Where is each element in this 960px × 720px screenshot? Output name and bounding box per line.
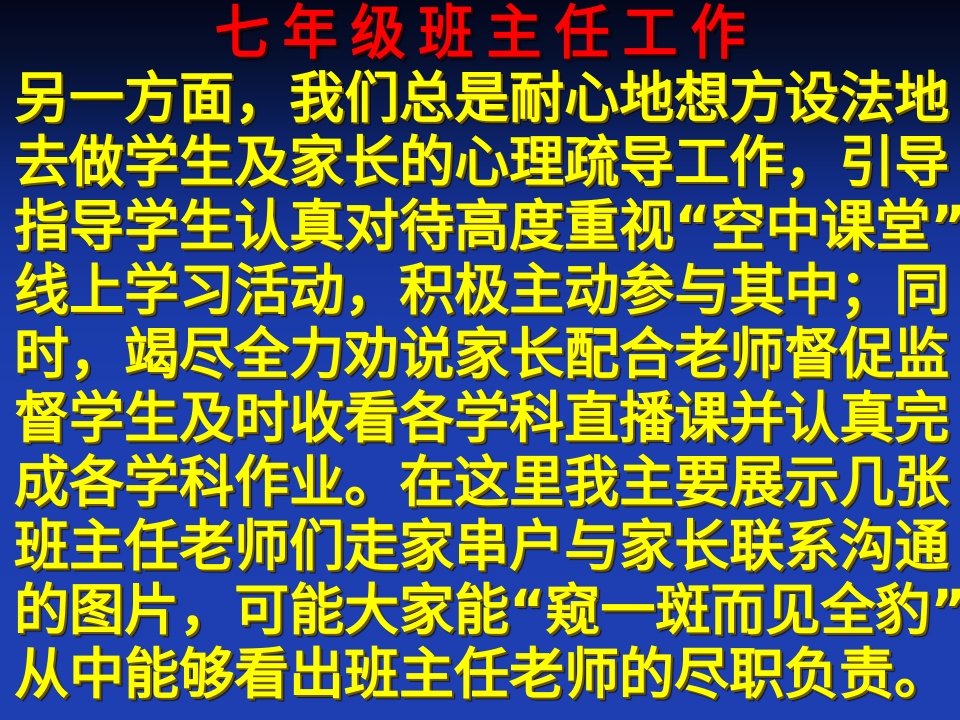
body-glyph: 心: [564, 66, 619, 130]
body-glyph: 习: [179, 258, 234, 322]
body-glyph: 及: [179, 386, 234, 450]
body-glyph: 学: [454, 386, 509, 450]
body-glyph: 导: [619, 130, 674, 194]
body-glyph: 学: [124, 258, 179, 322]
body-glyph: 中: [765, 194, 820, 258]
body-glyph: 与: [674, 258, 729, 322]
body-glyph: 理: [509, 130, 564, 194]
body-glyph: 其: [729, 258, 784, 322]
body-glyph: 收: [289, 386, 344, 450]
body-glyph: ”: [930, 578, 960, 642]
body-glyph: 待: [399, 194, 454, 258]
body-glyph: 片: [124, 578, 179, 642]
body-glyph: 高: [454, 194, 509, 258]
presentation-slide: 七年级班主任工作 另一方面，我们总是耐心地想方设法地 去做学生及家长的心理疏导工…: [0, 0, 960, 720]
body-line: 时，竭尽全力劝说家长配合老师督促监: [14, 322, 948, 386]
body-glyph: 并: [729, 386, 784, 450]
body-glyph: 直: [564, 386, 619, 450]
body-glyph: 与: [564, 514, 619, 578]
body-glyph: 在: [399, 450, 454, 514]
body-glyph: 动: [564, 258, 619, 322]
body-glyph: 生: [179, 194, 234, 258]
body-glyph: 及: [234, 130, 289, 194]
body-glyph: 真: [289, 194, 344, 258]
body-glyph: 法: [839, 66, 894, 130]
body-glyph: 认: [234, 194, 289, 258]
body-glyph: ，: [69, 322, 124, 386]
body-line: 另一方面，我们总是耐心地想方设法地: [14, 66, 948, 130]
body-glyph: 这: [454, 450, 509, 514]
body-glyph: 学: [124, 130, 179, 194]
body-glyph: ，: [344, 258, 399, 322]
body-glyph: 们: [344, 66, 399, 130]
body-glyph: 展: [729, 450, 784, 514]
body-glyph: 去: [14, 130, 69, 194]
body-glyph: 通: [894, 514, 949, 578]
body-glyph: 导: [894, 130, 949, 194]
body-line: 成各学科作业。在这里我主要展示几张: [14, 450, 948, 514]
body-glyph: 同: [894, 258, 949, 322]
body-glyph: 积: [399, 258, 454, 322]
body-glyph: 走: [344, 514, 399, 578]
body-glyph: 生: [179, 130, 234, 194]
body-glyph: 视: [619, 194, 674, 258]
body-glyph: 督: [784, 322, 839, 386]
body-glyph: 串: [454, 514, 509, 578]
body-glyph: “: [674, 194, 710, 258]
body-glyph: ”: [930, 194, 960, 258]
body-glyph: 播: [619, 386, 674, 450]
body-glyph: 力: [289, 322, 344, 386]
body-glyph: 科: [509, 386, 564, 450]
body-glyph: 时: [14, 322, 69, 386]
body-glyph: 我: [289, 66, 344, 130]
body-glyph: 班: [14, 514, 69, 578]
body-glyph: 各: [69, 450, 124, 514]
body-glyph: 竭: [124, 322, 179, 386]
body-glyph: 科: [179, 450, 234, 514]
body-glyph: 成: [14, 450, 69, 514]
body-glyph: 里: [509, 450, 564, 514]
body-glyph: 线: [14, 258, 69, 322]
body-glyph: 度: [509, 194, 564, 258]
body-glyph: ，: [784, 130, 839, 194]
body-line: 去做学生及家长的心理疏导工作，引导: [14, 130, 948, 194]
body-line: 指导学生认真对待高度重视“空中课堂”: [14, 194, 948, 258]
body-glyph: 尽: [179, 322, 234, 386]
body-glyph: 全: [820, 578, 875, 642]
body-glyph: 的: [14, 578, 69, 642]
slide-body-text: 另一方面，我们总是耐心地想方设法地 去做学生及家长的心理疏导工作，引导 指导学生…: [14, 66, 948, 706]
body-glyph: 可: [234, 578, 289, 642]
body-glyph: 老: [179, 514, 234, 578]
body-glyph: 窥: [545, 578, 600, 642]
body-glyph: 课: [674, 386, 729, 450]
body-glyph: 沟: [839, 514, 894, 578]
body-glyph: 极: [454, 258, 509, 322]
body-glyph: 作: [234, 450, 289, 514]
slide-title: 七年级班主任工作: [0, 4, 960, 59]
body-glyph: 地: [619, 66, 674, 130]
body-glyph: 上: [69, 258, 124, 322]
body-glyph: 能: [454, 578, 509, 642]
body-glyph: “: [509, 578, 545, 642]
body-glyph: 师: [234, 514, 289, 578]
body-glyph: 中: [784, 258, 839, 322]
body-glyph: 张: [894, 450, 949, 514]
body-glyph: 长: [674, 514, 729, 578]
body-glyph: 劝: [344, 322, 399, 386]
body-glyph: 疏: [564, 130, 619, 194]
body-glyph: 导: [69, 194, 124, 258]
body-glyph: 时: [234, 386, 289, 450]
body-glyph: 户: [509, 514, 564, 578]
body-glyph: 学: [124, 450, 179, 514]
body-glyph: 主: [619, 450, 674, 514]
body-glyph: 师: [729, 322, 784, 386]
body-glyph: 是: [454, 66, 509, 130]
body-glyph: 认: [784, 386, 839, 450]
body-glyph: 老: [674, 322, 729, 386]
body-glyph: 空: [710, 194, 765, 258]
body-glyph: 促: [839, 322, 894, 386]
body-glyph: 看: [344, 386, 399, 450]
body-glyph: 堂: [875, 194, 930, 258]
body-glyph: 系: [784, 514, 839, 578]
body-glyph: 全: [234, 322, 289, 386]
body-glyph: 督: [14, 386, 69, 450]
body-glyph: 生: [124, 386, 179, 450]
body-glyph: 见: [765, 578, 820, 642]
body-glyph: 活: [234, 258, 289, 322]
body-glyph: 斑: [655, 578, 710, 642]
body-glyph: 一: [600, 578, 655, 642]
body-glyph: 豹: [875, 578, 930, 642]
body-glyph: 图: [69, 578, 124, 642]
body-glyph: 真: [839, 386, 894, 450]
body-glyph: 主: [509, 258, 564, 322]
body-line: 督学生及时收看各学科直播课并认真完: [14, 386, 948, 450]
body-glyph: 说: [399, 322, 454, 386]
body-glyph: 心: [454, 130, 509, 194]
body-glyph: 几: [839, 450, 894, 514]
body-glyph: 长: [344, 130, 399, 194]
body-glyph: 们: [289, 514, 344, 578]
body-glyph: 合: [619, 322, 674, 386]
body-glyph: 方: [729, 66, 784, 130]
body-glyph: 要: [674, 450, 729, 514]
body-line: 的图片，可能大家能“窥一斑而见全豹”，: [14, 578, 948, 642]
body-glyph: 各: [399, 386, 454, 450]
body-glyph: 家: [619, 514, 674, 578]
body-glyph: 学: [124, 194, 179, 258]
body-glyph: 能: [289, 578, 344, 642]
body-glyph: 而: [710, 578, 765, 642]
body-glyph: 示: [784, 450, 839, 514]
body-glyph: 方: [124, 66, 179, 130]
body-glyph: 对: [344, 194, 399, 258]
body-line: 线上学习活动，积极主动参与其中；同: [14, 258, 948, 322]
body-glyph: 主: [69, 514, 124, 578]
body-glyph: 长: [509, 322, 564, 386]
body-glyph: 课: [820, 194, 875, 258]
body-glyph: 参: [619, 258, 674, 322]
body-glyph: ；: [839, 258, 894, 322]
body-glyph: ，: [179, 578, 234, 642]
body-glyph: 联: [729, 514, 784, 578]
body-glyph: 做: [69, 130, 124, 194]
body-glyph: 总: [399, 66, 454, 130]
body-glyph: 家: [454, 322, 509, 386]
body-glyph: 想: [674, 66, 729, 130]
body-glyph: 配: [564, 322, 619, 386]
body-glyph: 设: [784, 66, 839, 130]
body-glyph: 动: [289, 258, 344, 322]
body-glyph: 监: [894, 322, 949, 386]
body-line: 从中能够看出班主任老师的尽职负责。: [14, 642, 948, 706]
body-glyph: ，: [234, 66, 289, 130]
body-glyph: 。: [344, 450, 399, 514]
body-line: 班主任老师们走家串户与家长联系沟通: [14, 514, 948, 578]
body-glyph: 重: [564, 194, 619, 258]
body-glyph: 面: [179, 66, 234, 130]
body-glyph: 完: [894, 386, 949, 450]
body-glyph: 指: [14, 194, 69, 258]
body-glyph: 家: [289, 130, 344, 194]
body-glyph: 家: [399, 514, 454, 578]
body-glyph: 引: [839, 130, 894, 194]
body-glyph: 学: [69, 386, 124, 450]
body-glyph: 耐: [509, 66, 564, 130]
body-glyph: 业: [289, 450, 344, 514]
body-glyph: 另: [14, 66, 69, 130]
body-glyph: 家: [399, 578, 454, 642]
body-glyph: 任: [124, 514, 179, 578]
body-glyph: 大: [344, 578, 399, 642]
body-glyph: 地: [894, 66, 949, 130]
body-glyph: 的: [399, 130, 454, 194]
body-glyph: 我: [564, 450, 619, 514]
body-glyph: 工: [674, 130, 729, 194]
slide-title-text: 七年级班主任工作: [201, 4, 758, 62]
body-glyph: 一: [69, 66, 124, 130]
body-glyph: 作: [729, 130, 784, 194]
